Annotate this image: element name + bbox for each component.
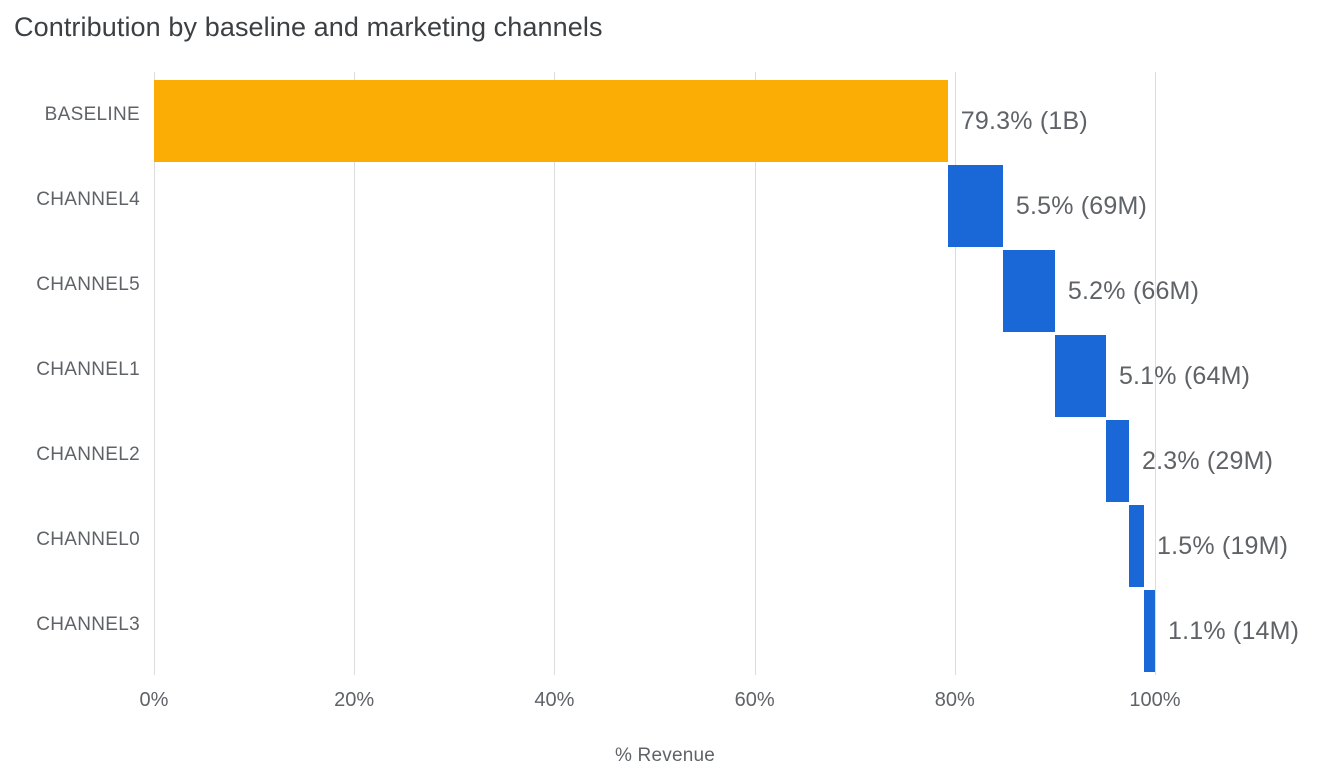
bar-channel0[interactable] [1129, 505, 1144, 587]
bar-row: 5.5% (69M) [154, 157, 1155, 242]
x-axis-title: % Revenue [0, 745, 1330, 767]
bar-channel4[interactable] [948, 165, 1003, 247]
chart-title: Contribution by baseline and marketing c… [14, 10, 603, 44]
bar-value-label: 5.1% (64M) [1119, 335, 1250, 417]
bar-value-label: 5.5% (69M) [1016, 165, 1147, 247]
x-axis-tick: 0% [140, 689, 169, 712]
y-axis-label-channel2: CHANNEL2 [36, 412, 140, 497]
bar-row: 2.3% (29M) [154, 412, 1155, 497]
y-axis-label-channel1: CHANNEL1 [36, 327, 140, 412]
bar-row: 5.1% (64M) [154, 327, 1155, 412]
bar-row: 1.5% (19M) [154, 497, 1155, 582]
bar-channel5[interactable] [1003, 250, 1055, 332]
y-axis: BASELINECHANNEL4CHANNEL5CHANNEL1CHANNEL2… [0, 72, 140, 675]
bar-row: 79.3% (1B) [154, 72, 1155, 157]
y-axis-label-channel4: CHANNEL4 [36, 157, 140, 242]
x-axis-tick: 40% [534, 689, 574, 712]
y-axis-label-channel5: CHANNEL5 [36, 242, 140, 327]
x-axis-tick: 100% [1129, 689, 1180, 712]
x-axis-tick: 20% [334, 689, 374, 712]
x-axis: 0%20%40%60%80%100% [154, 675, 1155, 715]
waterfall-chart: Contribution by baseline and marketing c… [0, 0, 1330, 781]
bar-value-label: 79.3% (1B) [961, 80, 1088, 162]
bar-channel2[interactable] [1106, 420, 1129, 502]
y-axis-label-baseline: BASELINE [45, 72, 140, 157]
x-axis-tick: 60% [735, 689, 775, 712]
bar-value-label: 2.3% (29M) [1142, 420, 1273, 502]
bar-baseline[interactable] [154, 80, 948, 162]
y-axis-label-channel3: CHANNEL3 [36, 582, 140, 667]
bar-row: 5.2% (66M) [154, 242, 1155, 327]
y-axis-label-channel0: CHANNEL0 [36, 497, 140, 582]
plot-area: 79.3% (1B)5.5% (69M)5.2% (66M)5.1% (64M)… [154, 72, 1155, 675]
x-axis-tick: 80% [935, 689, 975, 712]
bar-row: 1.1% (14M) [154, 582, 1155, 667]
bar-channel3[interactable] [1144, 590, 1155, 672]
bar-channel1[interactable] [1055, 335, 1106, 417]
bar-value-label: 1.5% (19M) [1157, 505, 1288, 587]
bar-value-label: 1.1% (14M) [1168, 590, 1299, 672]
bar-value-label: 5.2% (66M) [1068, 250, 1199, 332]
